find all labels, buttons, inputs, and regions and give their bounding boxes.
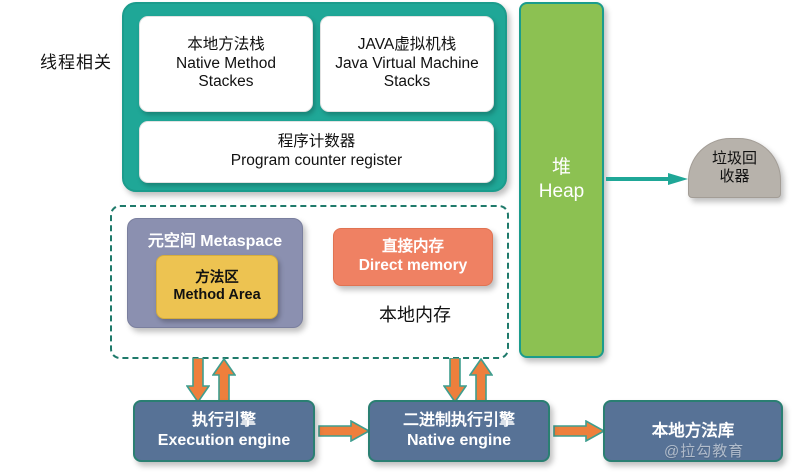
program-counter-label-cn: 程序计数器 [278,133,356,152]
heap-label-en: Heap [539,180,584,204]
metaspace-label: 元空间 Metaspace [128,227,302,251]
watermark: @拉勾教育 [664,440,784,461]
direct-memory-label-cn: 直接内存 [382,238,444,257]
execution-engine-label-cn: 执行引擎 [192,411,256,431]
direct-memory-label-en: Direct memory [359,257,468,276]
method-area-label-en: Method Area [173,287,260,304]
jvm-stacks-label-en-1: Java Virtual Machine [335,55,479,74]
native-engine-to-native-method-library-arrow-icon [553,420,605,442]
native-method-stacks-label-cn: 本地方法栈 [187,36,265,55]
native-memory-to-native-engine-down-arrow-icon [443,358,467,403]
program-counter-label-en: Program counter register [231,152,402,171]
execution-engine-box[interactable]: 执行引擎 Execution engine [133,400,315,462]
garbage-collector-label-line1: 垃圾回 [712,150,757,168]
thread-related-label: 线程相关 [40,48,130,73]
heap-box[interactable]: 堆 Heap [519,2,604,358]
thread-private-area-container: 本地方法栈 Native Method Stackes JAVA虚拟机栈 Jav… [122,2,507,192]
method-area-label-cn: 方法区 [195,270,239,287]
metaspace-to-execution-engine-down-arrow-icon [186,358,210,403]
native-engine-to-native-memory-up-arrow-icon [469,358,493,403]
native-method-stacks-box[interactable]: 本地方法栈 Native Method Stackes [139,16,313,112]
native-method-library-label-cn: 本地方法库 [652,421,735,441]
program-counter-register-box[interactable]: 程序计数器 Program counter register [139,121,494,183]
jvm-stacks-label-cn: JAVA虚拟机栈 [358,36,456,55]
direct-memory-box[interactable]: 直接内存 Direct memory [333,228,493,286]
jvm-stacks-label-en-2: Stacks [384,73,431,92]
garbage-collector-box[interactable]: 垃圾回 收器 [688,138,781,198]
heap-to-garbage-collector-arrow-icon [606,172,688,184]
native-method-stacks-label-en-1: Native Method [176,55,276,74]
jvm-stacks-box[interactable]: JAVA虚拟机栈 Java Virtual Machine Stacks [320,16,494,112]
metaspace-box[interactable]: 元空间 Metaspace 方法区 Method Area [127,218,303,328]
execution-engine-label-en: Execution engine [158,431,290,451]
native-memory-label: 本地内存 [355,301,475,327]
method-area-box[interactable]: 方法区 Method Area [156,255,278,319]
execution-engine-to-metaspace-up-arrow-icon [212,358,236,403]
heap-label-cn: 堆 [552,156,571,180]
native-engine-box[interactable]: 二进制执行引擎 Native engine [368,400,550,462]
native-engine-label-en: Native engine [407,431,511,451]
native-engine-label-cn: 二进制执行引擎 [403,411,515,431]
garbage-collector-label-line2: 收器 [719,168,749,186]
execution-engine-to-native-engine-arrow-icon [318,420,370,442]
native-method-stacks-label-en-2: Stackes [198,73,253,92]
